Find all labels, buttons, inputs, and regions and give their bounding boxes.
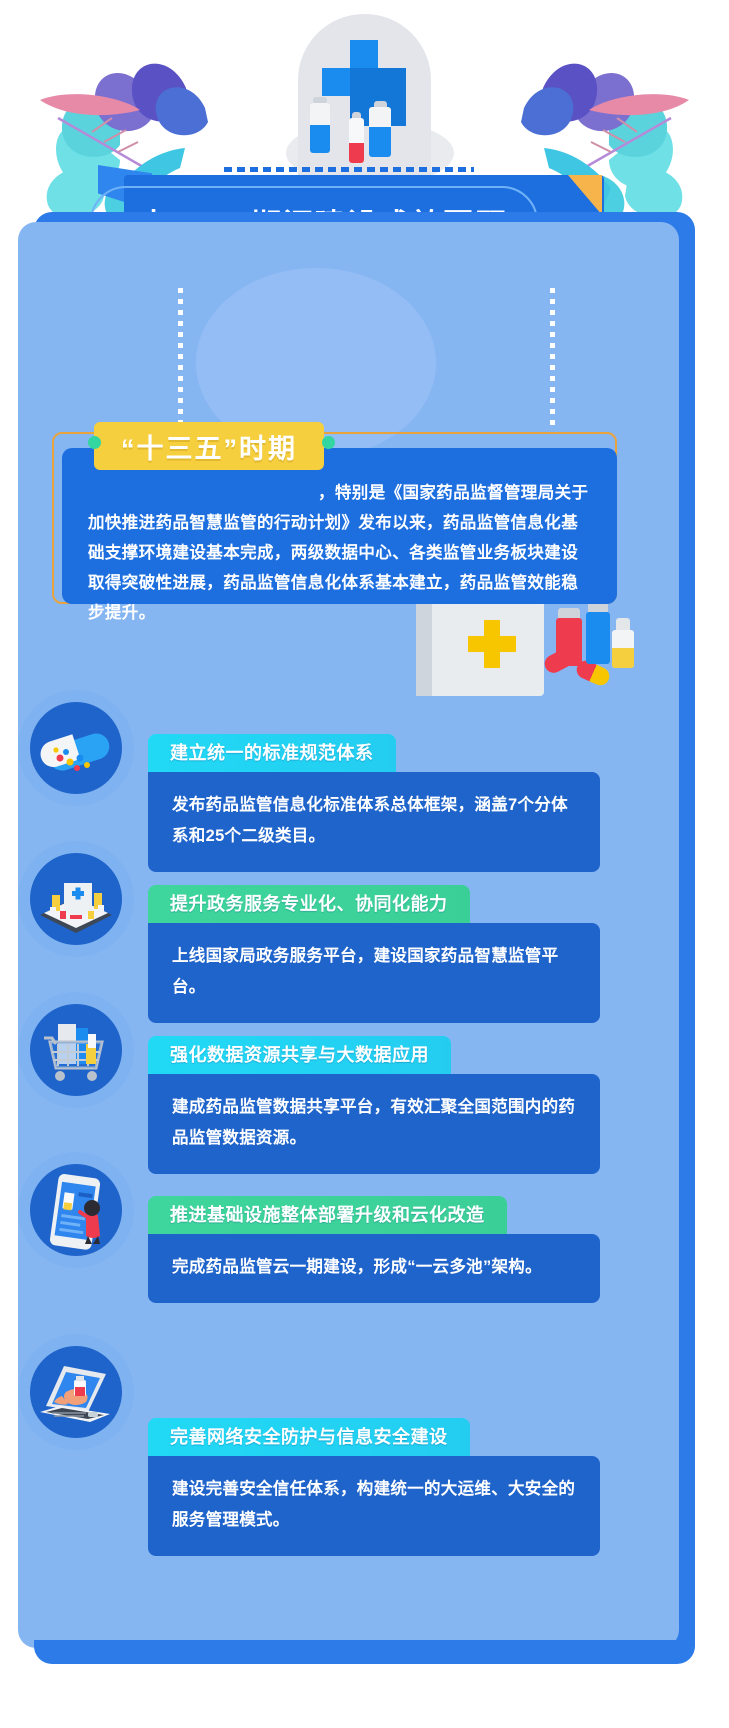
- card-body-5: 建设完善安全信任体系，构建统一的大运维、大安全的服务管理模式。: [148, 1456, 600, 1556]
- card-title-2: 提升政务服务专业化、协同化能力: [148, 885, 470, 923]
- mobile-phone-user-icon: [30, 1164, 122, 1256]
- kit-cross-icon-bar: [468, 636, 516, 652]
- medicine-bottle-icon: [349, 118, 364, 163]
- green-dot-right: [322, 436, 335, 449]
- laptop-hand-medicine-icon: [30, 1346, 122, 1438]
- dotted-connector-left: [178, 288, 183, 428]
- intro-panel: ，特别是《国家药品监督管理局关于加快推进药品智慧监管的行动计划》发布以来，药品监…: [62, 448, 617, 604]
- capsule-pills-icon: [30, 702, 122, 794]
- card-icon-badge-4: [18, 1152, 134, 1268]
- medicine-bottle-icon: [310, 103, 330, 153]
- achievement-card-5: 完善网络安全防护与信息安全建设 建设完善安全信任体系，构建统一的大运维、大安全的…: [148, 1418, 600, 1556]
- green-dot-left: [88, 436, 101, 449]
- card-body-1: 发布药品监管信息化标准体系总体框架，涵盖7个分体系和25个二级类目。: [148, 772, 600, 872]
- card-title-3: 强化数据资源共享与大数据应用: [148, 1036, 451, 1074]
- card-icon-badge-1: [18, 690, 134, 806]
- medicine-tray-clipboard-icon: [30, 853, 122, 945]
- card-icon-badge-3: [18, 992, 134, 1108]
- card-title-1: 建立统一的标准规范体系: [148, 734, 396, 772]
- achievement-card-3: 强化数据资源共享与大数据应用 建成药品监管数据共享平台，有效汇聚全国范围内的药品…: [148, 1036, 600, 1174]
- infographic-poster: “十三五”期间建设成效回顾 “十三五”时: [0, 0, 729, 1728]
- card-title-4: 推进基础设施整体部署升级和云化改造: [148, 1196, 507, 1234]
- card-icon-badge-2: [18, 841, 134, 957]
- shopping-cart-medicine-icon: [30, 1004, 122, 1096]
- card-body-4: 完成药品监管云一期建设，形成“一云多池”架构。: [148, 1234, 600, 1303]
- dropper-bottle-fill: [612, 648, 634, 668]
- card-icon-badge-5: [18, 1334, 134, 1450]
- intro-paragraph: ，特别是《国家药品监督管理局关于加快推进药品智慧监管的行动计划》发布以来，药品监…: [88, 478, 591, 628]
- period-tag: “十三五”时期: [94, 422, 324, 470]
- achievement-card-4: 推进基础设施整体部署升级和云化改造 完成药品监管云一期建设，形成“一云多池”架构…: [148, 1196, 600, 1303]
- dropper-cap: [616, 618, 630, 630]
- achievement-card-2: 提升政务服务专业化、协同化能力 上线国家局政务服务平台，建设国家药品智慧监管平台…: [148, 885, 600, 1023]
- dotted-connector-right: [550, 288, 555, 428]
- dotted-line-top: [224, 167, 474, 172]
- achievement-card-1: 建立统一的标准规范体系 发布药品监管信息化标准体系总体框架，涵盖7个分体系和25…: [148, 734, 600, 872]
- card-body-2: 上线国家局政务服务平台，建设国家药品智慧监管平台。: [148, 923, 600, 1023]
- card-body-3: 建成药品监管数据共享平台，有效汇聚全国范围内的药品监管数据资源。: [148, 1074, 600, 1174]
- card-title-5: 完善网络安全防护与信息安全建设: [148, 1418, 470, 1456]
- poster-bottom-bar: [34, 1640, 695, 1664]
- medicine-bottle-icon: [369, 107, 391, 157]
